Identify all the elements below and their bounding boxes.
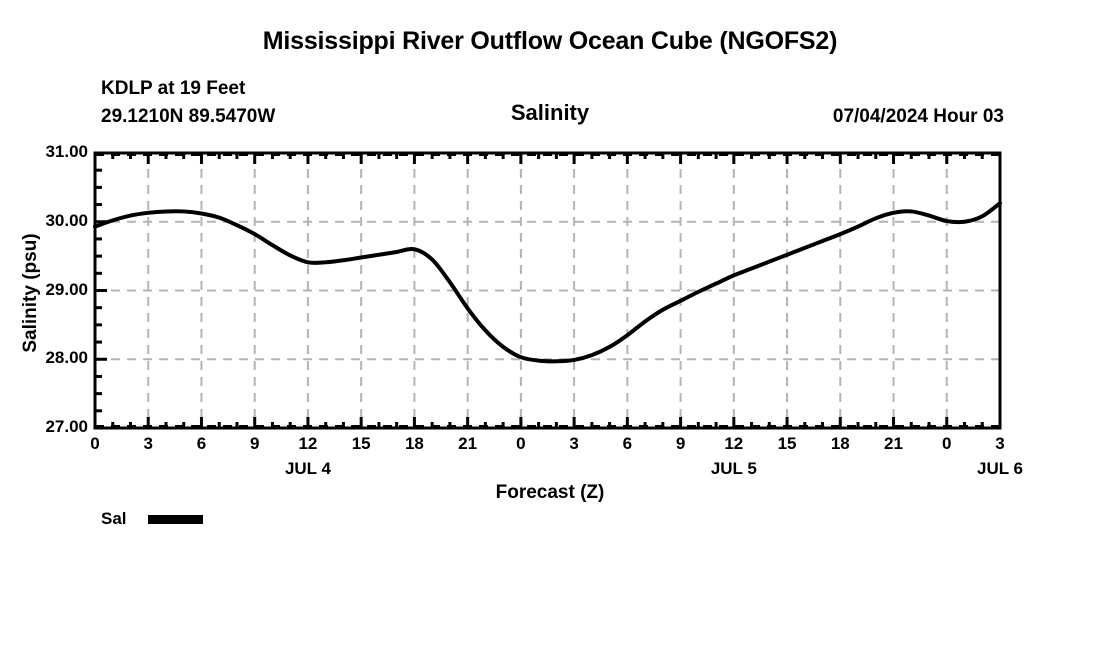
y-tick-label: 30.00 — [45, 211, 88, 231]
plot-area: Salinity (psu) — [95, 153, 1000, 428]
x-tick-label: 3 — [569, 434, 578, 454]
x-tick-label: 15 — [778, 434, 797, 454]
y-tick-label: 28.00 — [45, 348, 88, 368]
salinity-line-chart — [95, 153, 1000, 428]
y-axis-label: Salinity (psu) — [20, 183, 42, 403]
x-axis-day-label: JUL 4 — [285, 459, 331, 479]
y-tick-label: 31.00 — [45, 142, 88, 162]
legend-swatch-sal — [148, 515, 203, 524]
x-tick-label: 21 — [884, 434, 903, 454]
x-tick-label: 12 — [724, 434, 743, 454]
x-tick-label: 18 — [831, 434, 850, 454]
x-tick-label: 0 — [516, 434, 525, 454]
page-title-top: Mississippi River Outflow Ocean Cube (NG… — [0, 27, 1100, 56]
x-tick-label: 0 — [90, 434, 99, 454]
x-tick-label: 0 — [942, 434, 951, 454]
x-tick-label: 3 — [995, 434, 1004, 454]
x-tick-label: 12 — [298, 434, 317, 454]
forecast-cycle-stamp: 07/04/2024 Hour 03 — [833, 106, 1004, 128]
x-tick-label: 18 — [405, 434, 424, 454]
series-line-sal — [95, 203, 1000, 361]
grid-lines — [95, 153, 1000, 428]
legend: Sal — [101, 509, 203, 529]
x-axis-day-label: JUL 5 — [711, 459, 757, 479]
x-tick-label: 15 — [352, 434, 371, 454]
x-tick-label: 9 — [676, 434, 685, 454]
x-tick-label: 3 — [144, 434, 153, 454]
x-tick-label: 9 — [250, 434, 259, 454]
y-tick-label: 29.00 — [45, 280, 88, 300]
x-tick-label: 6 — [197, 434, 206, 454]
chart-page: Mississippi River Outflow Ocean Cube (NG… — [0, 0, 1100, 650]
x-tick-label: 21 — [458, 434, 477, 454]
y-tick-label: 27.00 — [45, 417, 88, 437]
legend-label-sal: Sal — [101, 509, 127, 529]
x-tick-label: 6 — [623, 434, 632, 454]
x-axis-label: Forecast (Z) — [0, 482, 1100, 504]
x-axis-day-label: JUL 6 — [977, 459, 1023, 479]
station-name: KDLP at 19 Feet — [101, 78, 245, 100]
